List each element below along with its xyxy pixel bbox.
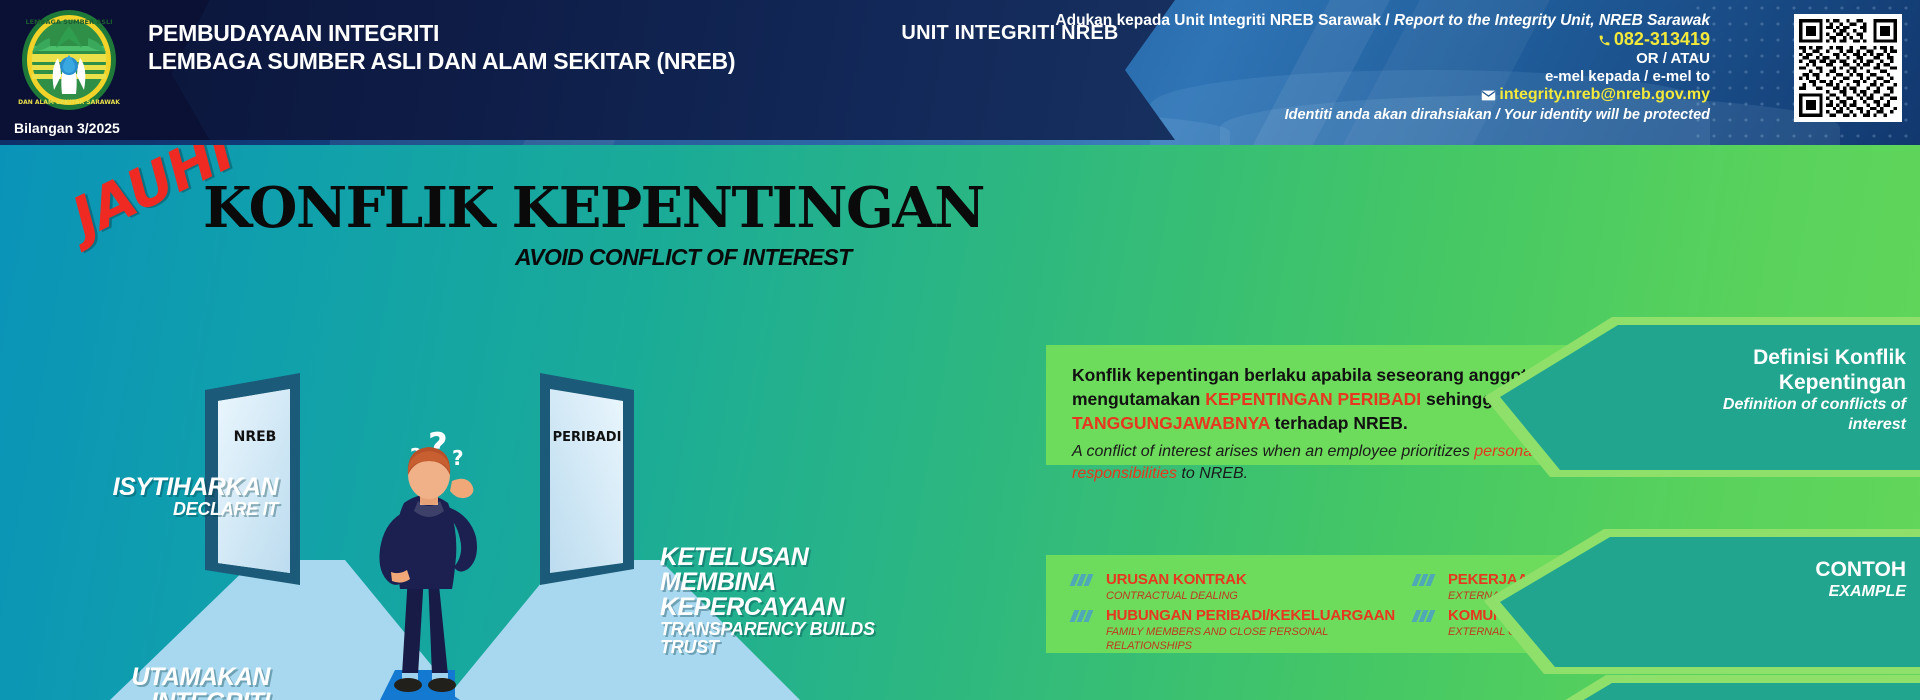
svg-text:PERIBADI: PERIBADI bbox=[553, 430, 622, 445]
phone-number: 082-313419 bbox=[1614, 29, 1710, 49]
or-label: OR / ATAU bbox=[960, 50, 1710, 68]
svg-text:DAN ALAM SEKITAR SARAWAK: DAN ALAM SEKITAR SARAWAK bbox=[18, 99, 120, 106]
label-declare-en: DECLARE IT bbox=[38, 500, 278, 518]
report-label-bm: Adukan kepada Unit Integriti NREB Sarawa… bbox=[1055, 12, 1381, 29]
example-item: HUBUNGAN PERIBADI/KEKELUARGAAN FAMILY ME… bbox=[1072, 607, 1402, 653]
tab-definition-en: Definition of conflicts of interest bbox=[1716, 395, 1906, 435]
definition-bm-part3: terhadap NREB. bbox=[1270, 413, 1408, 433]
example-item-bm: URUSAN KONTRAK bbox=[1106, 571, 1402, 589]
label-integrity-first: UTAMAKAN INTEGRITI INTEGRITY FIRST bbox=[20, 665, 270, 700]
phone-line[interactable]: 082-313419 bbox=[960, 30, 1710, 50]
poster-body: NREB PERIBADI ? ? ? bbox=[0, 145, 1920, 700]
report-label-en: Report to the Integrity Unit, NREB Saraw… bbox=[1394, 12, 1710, 29]
svg-text:NREB: NREB bbox=[234, 429, 277, 445]
svg-text:?: ? bbox=[452, 446, 464, 470]
example-item-bm: HUBUNGAN PERIBADI/KEKELUARGAAN bbox=[1106, 607, 1402, 625]
example-item-en: FAMILY MEMBERS AND CLOSE PERSONAL RELATI… bbox=[1106, 625, 1402, 653]
identity-protection-note: Identiti anda akan dirahsiakan / Your id… bbox=[960, 106, 1710, 124]
stripes-icon bbox=[1414, 574, 1440, 586]
svg-text:LEMBAGA SUMBER ASLI: LEMBAGA SUMBER ASLI bbox=[25, 18, 112, 26]
title-headline: KONFLIK KEPENTINGAN bbox=[203, 178, 984, 238]
definition-en-part3: to NREB. bbox=[1177, 465, 1248, 482]
tab-definition-bm: Definisi Konflik Kepentingan bbox=[1716, 345, 1906, 395]
qr-code[interactable] bbox=[1794, 14, 1902, 122]
envelope-icon bbox=[1481, 88, 1496, 106]
stripes-icon bbox=[1414, 610, 1440, 622]
phone-icon bbox=[1598, 32, 1611, 50]
label-integrity-bm: UTAMAKAN INTEGRITI bbox=[20, 665, 270, 700]
example-item-en: CONTRACTUAL DEALING bbox=[1106, 589, 1402, 603]
email-label: e-mel kepada / e-mel to bbox=[960, 68, 1710, 86]
organization-title: PEMBUDAYAAN INTEGRITI LEMBAGA SUMBER ASL… bbox=[148, 20, 735, 76]
issue-number: Bilangan 3/2025 bbox=[14, 120, 120, 136]
tab-label-definition: Definisi Konflik Kepentingan Definition … bbox=[1716, 345, 1906, 435]
page-header: LEMBAGA SUMBER ASLI DAN ALAM SEKITAR SAR… bbox=[0, 0, 1920, 145]
nreb-logo: LEMBAGA SUMBER ASLI DAN ALAM SEKITAR SAR… bbox=[14, 8, 124, 112]
tab-example-bm: CONTOH bbox=[1716, 557, 1906, 582]
label-declare-it: ISYTIHARKAN DECLARE IT bbox=[38, 475, 278, 518]
label-transparency-trust: KETELUSAN MEMBINA KEPERCAYAAN TRANSPAREN… bbox=[660, 545, 920, 656]
org-title-line2: LEMBAGA SUMBER ASLI DAN ALAM SEKITAR (NR… bbox=[148, 47, 735, 76]
title-subhead: AVOID CONFLICT OF INTEREST bbox=[515, 244, 852, 271]
example-item: URUSAN KONTRAK CONTRACTUAL DEALING bbox=[1072, 571, 1402, 603]
label-declare-bm: ISYTIHARKAN bbox=[38, 475, 278, 500]
example-column-left: URUSAN KONTRAK CONTRACTUAL DEALING HUBUN… bbox=[1072, 571, 1402, 657]
contact-block: Adukan kepada Unit Integriti NREB Sarawa… bbox=[960, 12, 1710, 124]
report-line: Adukan kepada Unit Integriti NREB Sarawa… bbox=[960, 12, 1710, 30]
label-trust-bm: KETELUSAN MEMBINA KEPERCAYAAN bbox=[660, 545, 920, 620]
illustration-area: NREB PERIBADI ? ? ? bbox=[0, 145, 1020, 700]
tab-label-example: CONTOH EXAMPLE bbox=[1716, 557, 1906, 602]
tab-example-en: EXAMPLE bbox=[1716, 582, 1906, 602]
stripes-icon bbox=[1072, 574, 1098, 586]
definition-bm-red1: KEPENTINGAN PERIBADI bbox=[1205, 389, 1421, 409]
report-separator: / bbox=[1381, 12, 1394, 29]
email-address: integrity.nreb@nreb.gov.my bbox=[1499, 86, 1710, 103]
email-line[interactable]: integrity.nreb@nreb.gov.my bbox=[960, 86, 1710, 106]
definition-en-part1: A conflict of interest arises when an em… bbox=[1072, 443, 1474, 460]
org-title-line1: PEMBUDAYAAN INTEGRITI bbox=[148, 20, 735, 47]
tab-bg-action bbox=[1500, 683, 1920, 700]
label-trust-en: TRANSPARENCY BUILDS TRUST bbox=[660, 620, 920, 656]
stripes-icon bbox=[1072, 610, 1098, 622]
